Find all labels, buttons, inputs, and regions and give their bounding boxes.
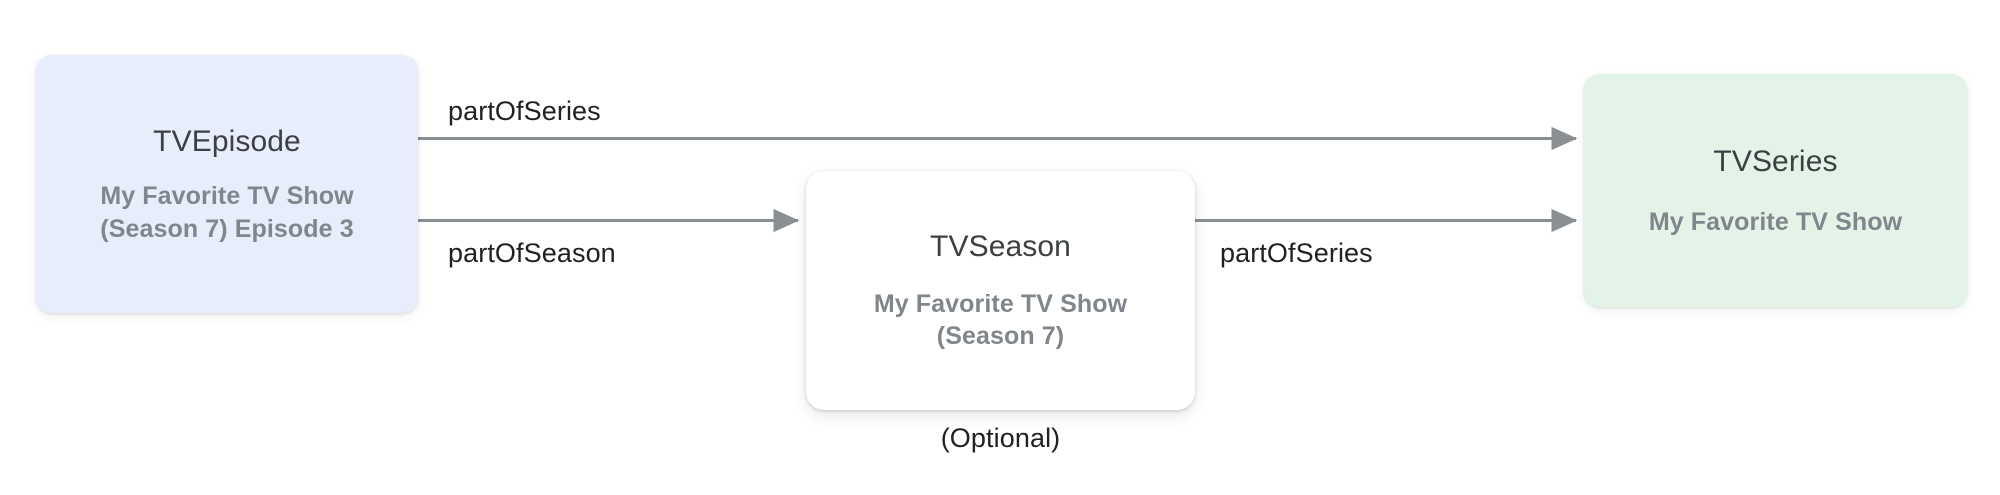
edge-label-season-to-series: partOfSeries: [1220, 240, 1373, 267]
node-tvepisode-subtitle-line-1: My Favorite TV Show: [100, 180, 353, 213]
annotation-season-optional: (Optional): [806, 425, 1195, 452]
node-tvepisode-title: TVEpisode: [153, 123, 301, 161]
node-tvseries-subtitle-line-1: My Favorite TV Show: [1649, 206, 1902, 239]
edge-label-episode-to-series: partOfSeries: [448, 98, 601, 125]
node-tvseason-title: TVSeason: [930, 228, 1071, 266]
node-tvseason-subtitle: My Favorite TV Show (Season 7): [874, 288, 1127, 353]
node-tvseries-subtitle: My Favorite TV Show: [1649, 206, 1902, 239]
node-tvepisode-subtitle-line-2: (Season 7) Episode 3: [100, 213, 353, 246]
node-tvseason: TVSeason My Favorite TV Show (Season 7): [806, 171, 1195, 410]
node-tvseries: TVSeries My Favorite TV Show: [1584, 74, 1967, 307]
edge-label-episode-to-season: partOfSeason: [448, 240, 616, 267]
node-tvseason-subtitle-line-1: My Favorite TV Show: [874, 288, 1127, 321]
node-tvepisode: TVEpisode My Favorite TV Show (Season 7)…: [36, 55, 418, 313]
node-tvseason-subtitle-line-2: (Season 7): [874, 320, 1127, 353]
node-tvseries-title: TVSeries: [1713, 143, 1837, 181]
node-tvepisode-subtitle: My Favorite TV Show (Season 7) Episode 3: [100, 180, 353, 245]
schema-relationship-diagram: TVEpisode My Favorite TV Show (Season 7)…: [0, 0, 2000, 495]
